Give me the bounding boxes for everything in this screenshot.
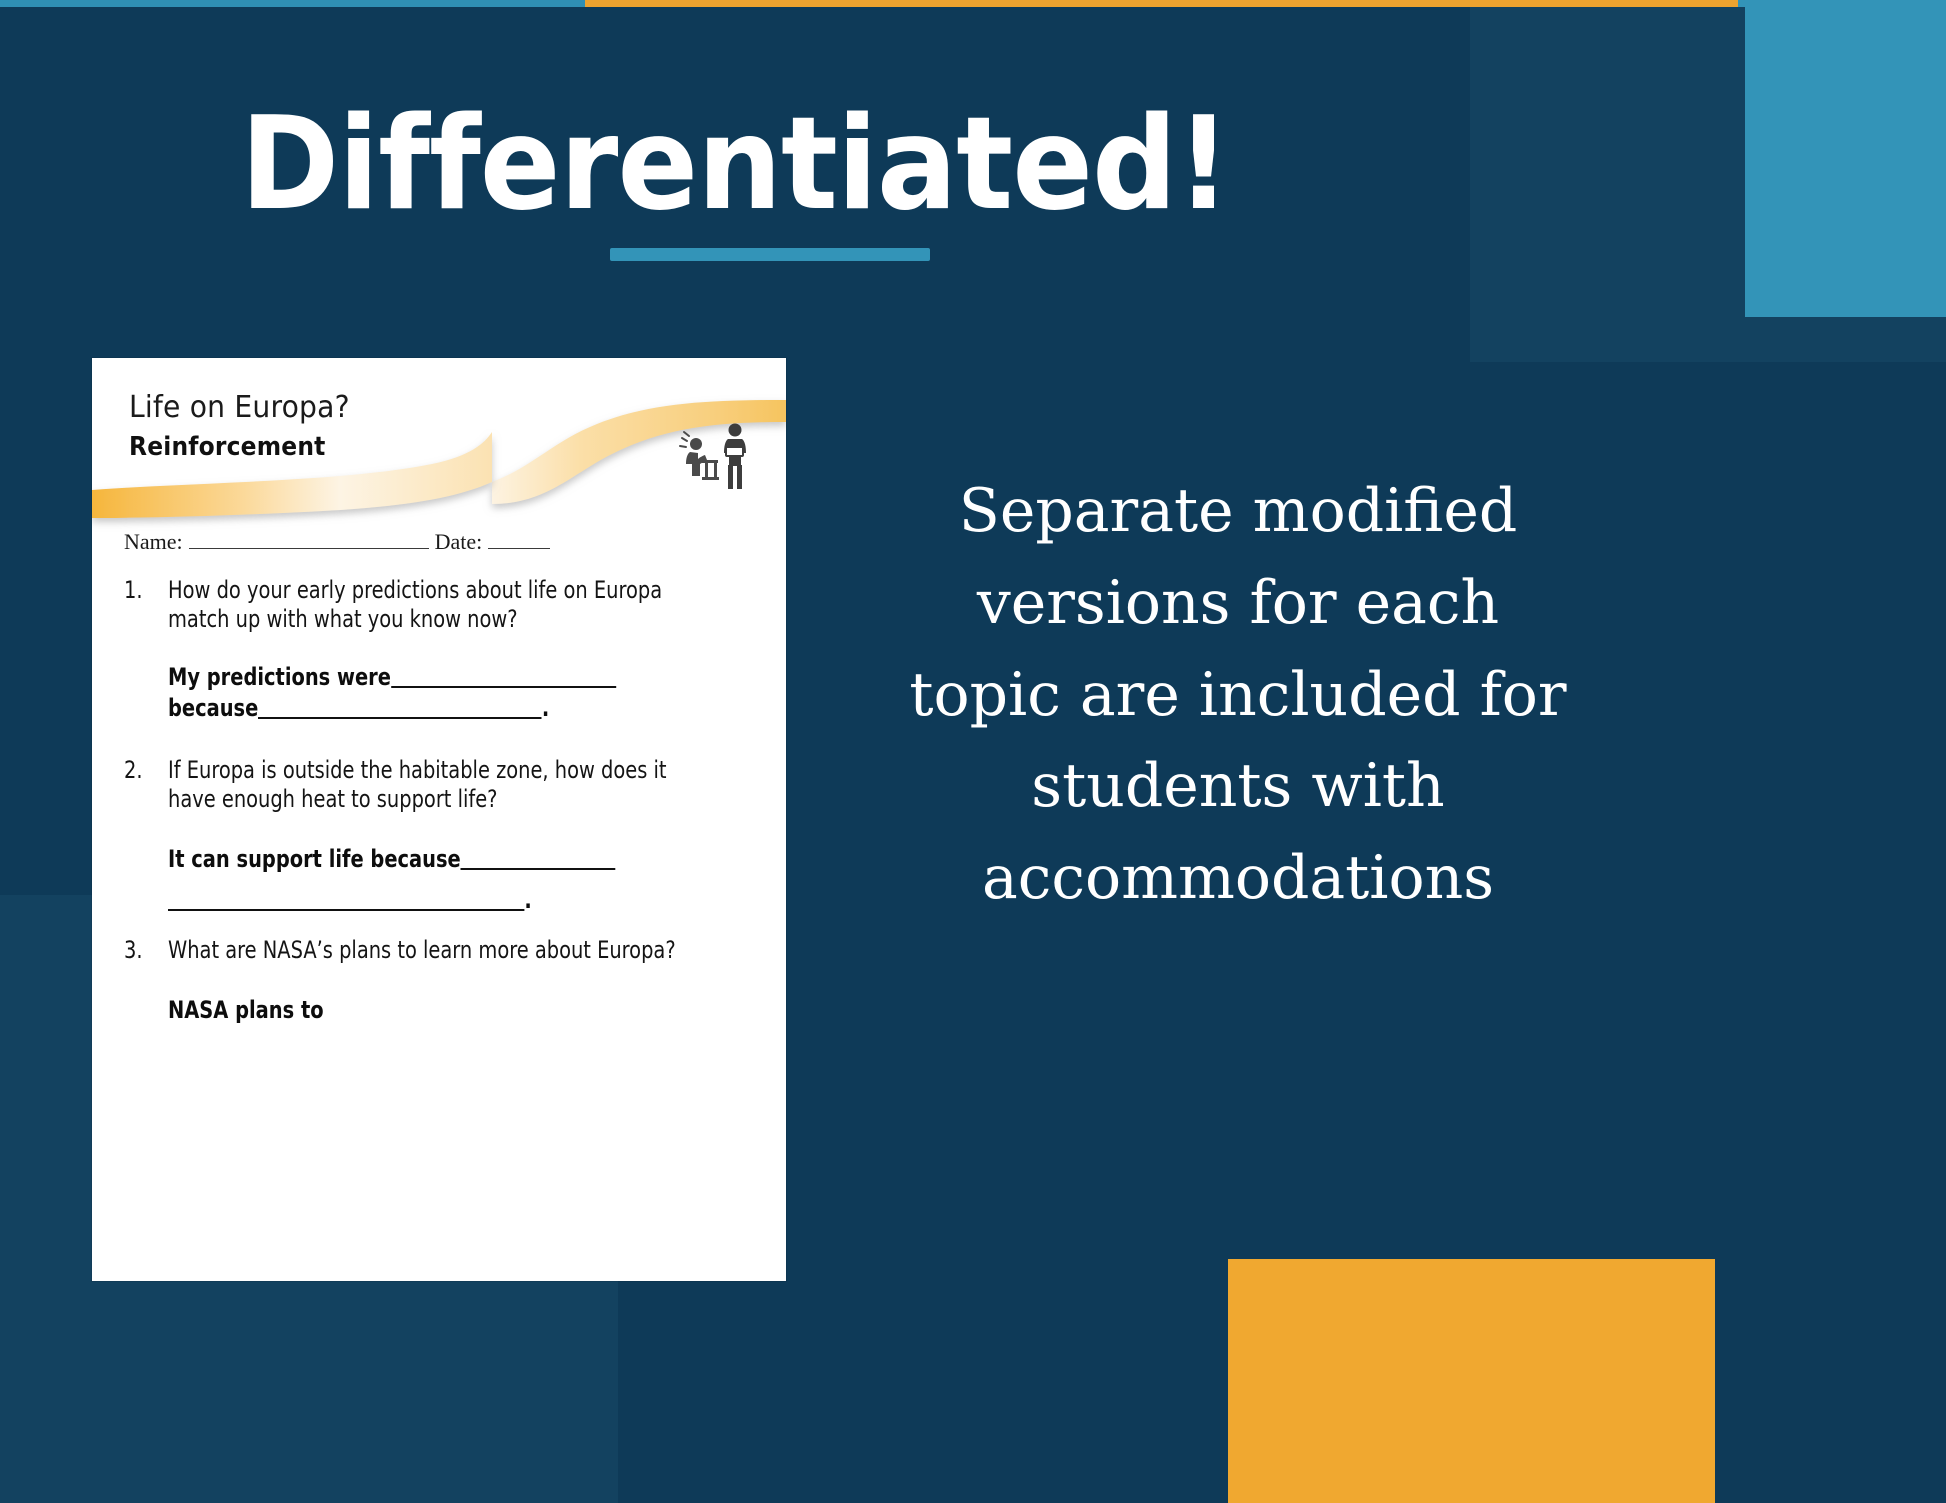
question-1-blank-a <box>391 661 616 688</box>
question-1-sentence-starter-b: because. <box>168 692 786 723</box>
question-3-number: 3. <box>124 936 151 965</box>
teacher-and-seated-student-icon <box>678 420 756 492</box>
question-3-starter-a-text: NASA plans to <box>168 996 324 1024</box>
top-accent-strip <box>0 0 1946 7</box>
name-label: Name: <box>124 529 183 555</box>
question-3-row: 3. What are NASA’s plans to learn more a… <box>124 936 764 965</box>
slide-canvas: Differentiated! Separate modified versio… <box>0 0 1946 1503</box>
question-2-blank-b <box>168 884 524 911</box>
worksheet-page: Life on Europa? Reinforcement <box>92 358 786 1281</box>
question-3-block: 3. What are NASA’s plans to learn more a… <box>124 936 764 1026</box>
decorative-block-bottom-right-orange <box>1228 1259 1715 1503</box>
slide-title: Differentiated! <box>51 96 1418 234</box>
question-2-row: 2. If Europa is outside the habitable zo… <box>124 756 764 815</box>
question-1-text: How do your early predictions about life… <box>168 576 704 635</box>
worksheet-title: Life on Europa? <box>129 390 350 425</box>
question-2-number: 2. <box>124 756 151 815</box>
decorative-block-top-right-teal <box>1745 0 1946 317</box>
question-2-continuation-line: . <box>168 884 786 915</box>
question-3-text: What are NASA’s plans to learn more abou… <box>168 936 704 965</box>
worksheet-preview-image[interactable]: Life on Europa? Reinforcement <box>92 358 786 1281</box>
question-1-number: 1. <box>124 576 151 635</box>
question-1-starter-b-text: because <box>168 694 258 722</box>
name-blank-line <box>189 526 429 549</box>
question-1-sentence-starter-a: My predictions were <box>168 661 786 692</box>
question-1-period: . <box>542 694 549 722</box>
question-1-row: 1. How do your early predictions about l… <box>124 576 764 635</box>
question-2-sentence-starter-a: It can support life because <box>168 843 786 874</box>
question-2-starter-a-text: It can support life because <box>168 845 461 873</box>
question-2-period: . <box>524 886 531 914</box>
title-container: Differentiated! <box>0 96 1470 234</box>
question-3-sentence-starter-a: NASA plans to <box>168 995 786 1025</box>
strip-segment-orange <box>585 0 1738 7</box>
title-underline-rule <box>610 248 930 261</box>
question-1-block: 1. How do your early predictions about l… <box>124 576 764 723</box>
worksheet-subtitle: Reinforcement <box>129 432 326 462</box>
strip-segment-teal-right <box>1738 0 1946 7</box>
question-2-block: 2. If Europa is outside the habitable zo… <box>124 756 764 915</box>
question-1-blank-b <box>258 692 542 719</box>
body-paragraph: Separate modified versions for each topi… <box>892 466 1584 925</box>
strip-segment-teal-left <box>0 0 585 7</box>
name-date-row: Name: Date: <box>124 526 604 555</box>
date-blank-line <box>488 526 550 549</box>
question-2-text: If Europa is outside the habitable zone,… <box>168 756 704 815</box>
date-label: Date: <box>435 529 483 555</box>
question-1-starter-a-text: My predictions were <box>168 663 391 691</box>
question-2-blank-a <box>461 843 616 870</box>
